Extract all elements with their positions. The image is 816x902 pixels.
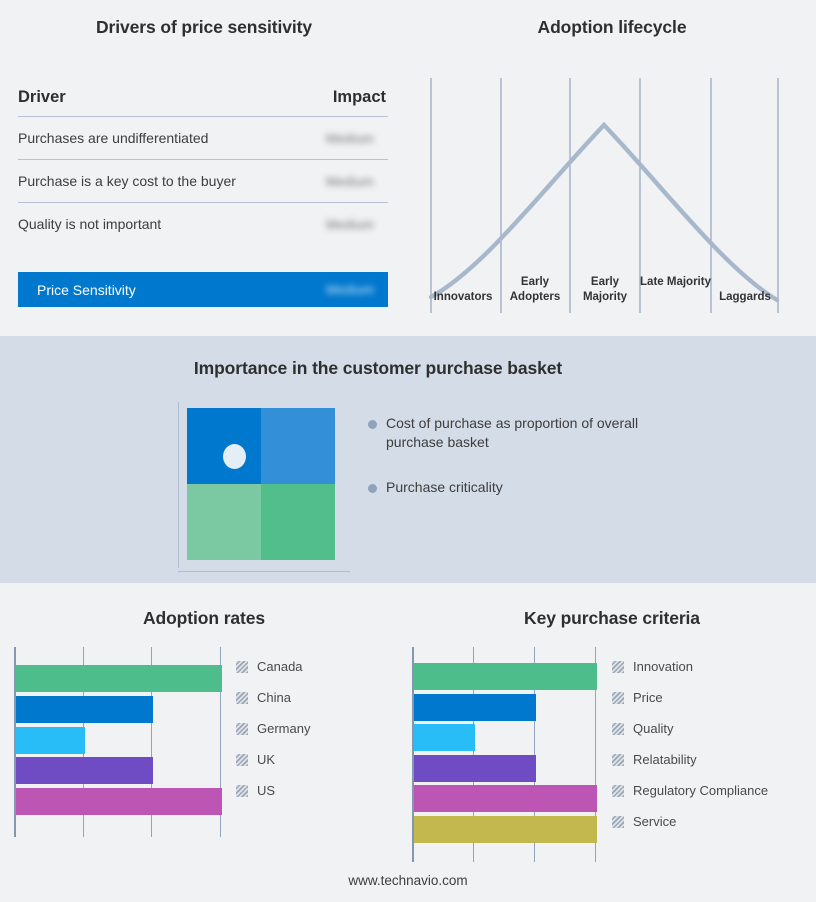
bar-china [16,696,153,723]
driver-label: Purchase is a key cost to the buyer [18,173,236,189]
footer-url: www.technavio.com [0,873,816,888]
hatch-swatch-icon [236,723,248,735]
matrix-cells [187,408,335,560]
legend-item: Relatability [612,744,768,775]
quadrant-top-left [187,408,261,484]
legend-label: Price [633,690,663,705]
hatch-swatch-icon [612,661,624,673]
stage-label-late-majority: Late Majority [640,275,711,290]
legend-label: China [257,690,291,705]
legend-label: Quality [633,721,673,736]
bar-uk [16,757,153,784]
highlight-impact-value: Medium [326,282,374,297]
key-purchase-criteria-plot-area [412,647,597,862]
legend-item: UK [236,744,310,775]
legend-label: Germany [257,721,310,736]
bar-service [414,816,597,843]
table-row: Quality is not important Medium [18,203,388,245]
legend-item: Purchase criticality [368,478,668,497]
stage-label-laggards: Laggards [712,290,778,305]
legend-item: China [236,682,310,713]
driver-label: Purchases are undifferentiated [18,130,208,146]
bar-regulatory-compliance [414,785,597,812]
quadrant-bottom-right [261,484,335,560]
legend-item: US [236,775,310,806]
basket-legend: Cost of purchase as proportion of overal… [368,414,668,523]
legend-label: Relatability [633,752,697,767]
adoption-rates-legend: CanadaChinaGermanyUKUS [236,651,310,806]
hatch-swatch-icon [612,785,624,797]
legend-label: US [257,783,275,798]
lifecycle-stage-labels: Innovators Early Adopters Early Majority… [424,268,804,313]
legend-item: Cost of purchase as proportion of overal… [368,414,668,452]
hatch-swatch-icon [236,785,248,797]
table-row: Purchases are undifferentiated Medium [18,117,388,160]
quadrant-bottom-left [187,484,261,560]
stage-label-early-majority: Early Majority [570,275,640,304]
purchase-basket-title: Importance in the customer purchase bask… [0,358,756,379]
column-header-impact: Impact [333,88,386,107]
matrix-x-axis [178,571,350,572]
adoption-lifecycle-title: Adoption lifecycle [408,17,816,38]
key-purchase-criteria-chart: InnovationPriceQualityRelatabilityRegula… [412,647,812,862]
legend-label: UK [257,752,275,767]
impact-value: Medium [326,131,374,146]
key-purchase-criteria-panel: Key purchase criteria InnovationPriceQua… [408,583,816,902]
drivers-title: Drivers of price sensitivity [0,17,408,38]
stage-label-innovators: Innovators [428,290,498,305]
legend-item: Germany [236,713,310,744]
hatch-swatch-icon [236,754,248,766]
matrix-y-axis [178,402,179,568]
legend-label: Innovation [633,659,693,674]
hatch-swatch-icon [612,754,624,766]
price-sensitivity-highlight-row: Price Sensitivity Medium [18,272,388,307]
drivers-panel: Drivers of price sensitivity Driver Impa… [0,0,408,336]
legend-label: Cost of purchase as proportion of overal… [386,414,641,452]
bar-us [16,788,222,815]
bar-canada [16,665,222,692]
highlight-label: Price Sensitivity [37,282,136,298]
bar-innovation [414,663,597,690]
hatch-swatch-icon [236,661,248,673]
hatch-swatch-icon [612,816,624,828]
legend-item: Regulatory Compliance [612,775,768,806]
legend-label: Canada [257,659,303,674]
adoption-rates-plot-area [14,647,222,837]
adoption-rates-panel: Adoption rates CanadaChinaGermanyUKUS [0,583,408,902]
legend-label: Regulatory Compliance [633,783,768,798]
purchase-basket-panel: Importance in the customer purchase bask… [0,336,816,583]
legend-item: Price [612,682,768,713]
adoption-rates-title: Adoption rates [0,608,408,629]
legend-item: Quality [612,713,768,744]
bullet-icon [368,420,377,429]
legend-label: Service [633,814,676,829]
table-header-row: Driver Impact [18,88,388,117]
legend-item: Innovation [612,651,768,682]
bar-quality [414,724,475,751]
hatch-swatch-icon [236,692,248,704]
impact-value: Medium [326,174,374,189]
key-purchase-criteria-legend: InnovationPriceQualityRelatabilityRegula… [612,651,768,837]
adoption-lifecycle-panel: Adoption lifecycle Innovators Early Adop… [408,0,816,336]
quadrant-top-right [261,408,335,484]
quadrant-matrix [178,402,353,572]
drivers-table: Driver Impact Purchases are undifferenti… [18,88,388,245]
impact-value: Medium [326,217,374,232]
legend-label: Purchase criticality [386,478,503,497]
bar-price [414,694,536,721]
column-header-driver: Driver [18,88,66,107]
driver-label: Quality is not important [18,216,161,232]
bullet-icon [368,484,377,493]
hatch-swatch-icon [612,692,624,704]
stage-label-early-adopters: Early Adopters [500,275,570,304]
bar-relatability [414,755,536,782]
legend-item: Service [612,806,768,837]
hatch-swatch-icon [612,723,624,735]
position-marker-dot [223,444,246,469]
bar-germany [16,727,85,754]
legend-item: Canada [236,651,310,682]
adoption-rates-chart: CanadaChinaGermanyUKUS [14,647,404,837]
key-purchase-criteria-title: Key purchase criteria [408,608,816,629]
table-row: Purchase is a key cost to the buyer Medi… [18,160,388,203]
